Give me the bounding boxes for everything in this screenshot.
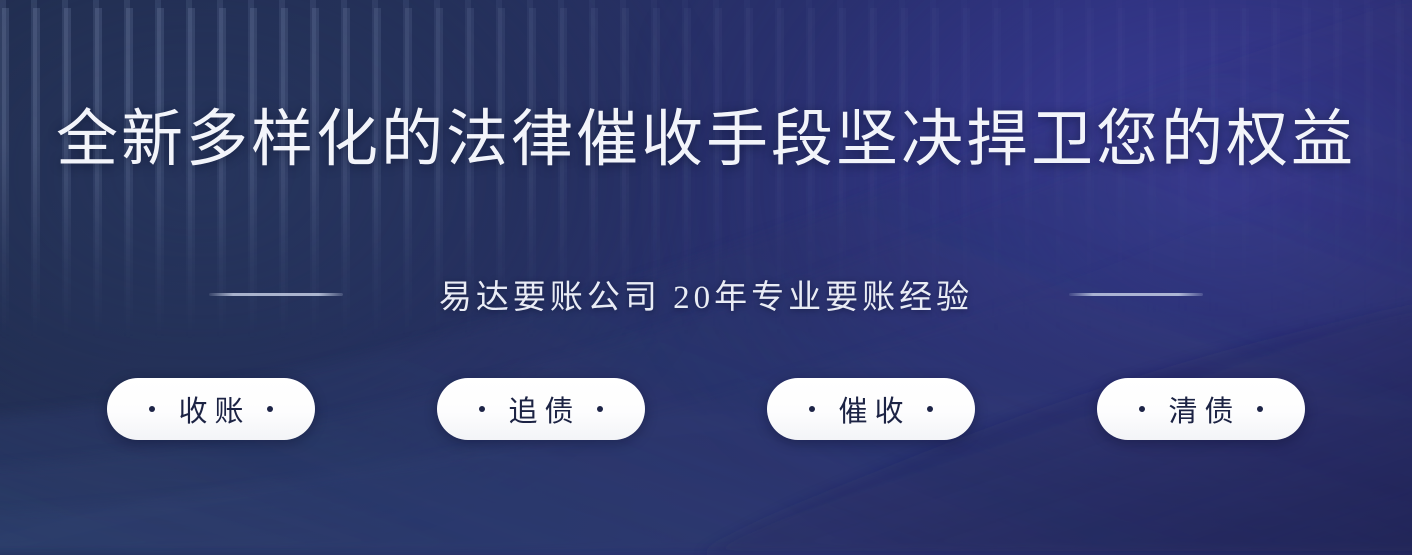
bullet-dot-icon: [149, 406, 155, 412]
bullet-dot-icon: [927, 406, 933, 412]
service-pill-label: 收账: [171, 388, 250, 430]
service-pill-label: 清债: [1161, 388, 1240, 430]
bullet-dot-icon: [1139, 406, 1145, 412]
service-pill-list: 收账 追债 催收 清债: [0, 378, 1412, 440]
banner-content: 全新多样化的法律催收手段坚决捍卫您的权益 易达要账公司 20年专业要账经验 收账…: [0, 0, 1412, 555]
banner-subtitle: 易达要账公司 20年专业要账经验: [439, 270, 973, 318]
service-pill-qingzhai[interactable]: 清债: [1097, 378, 1305, 440]
service-pill-cuishou[interactable]: 催收: [767, 378, 975, 440]
service-pill-label: 催收: [831, 388, 910, 430]
promo-banner: 全新多样化的法律催收手段坚决捍卫您的权益 易达要账公司 20年专业要账经验 收账…: [0, 0, 1412, 555]
service-pill-zhuizhai[interactable]: 追债: [437, 378, 645, 440]
bullet-dot-icon: [597, 406, 603, 412]
right-rule: [1069, 293, 1203, 296]
banner-headline: 全新多样化的法律催收手段坚决捍卫您的权益: [0, 108, 1412, 173]
bullet-dot-icon: [479, 406, 485, 412]
bullet-dot-icon: [809, 406, 815, 412]
bullet-dot-icon: [1257, 406, 1263, 412]
left-rule: [209, 293, 343, 296]
service-pill-label: 追债: [501, 388, 580, 430]
bullet-dot-icon: [267, 406, 273, 412]
subtitle-row: 易达要账公司 20年专业要账经验: [0, 268, 1412, 320]
service-pill-shouzhang[interactable]: 收账: [107, 378, 315, 440]
